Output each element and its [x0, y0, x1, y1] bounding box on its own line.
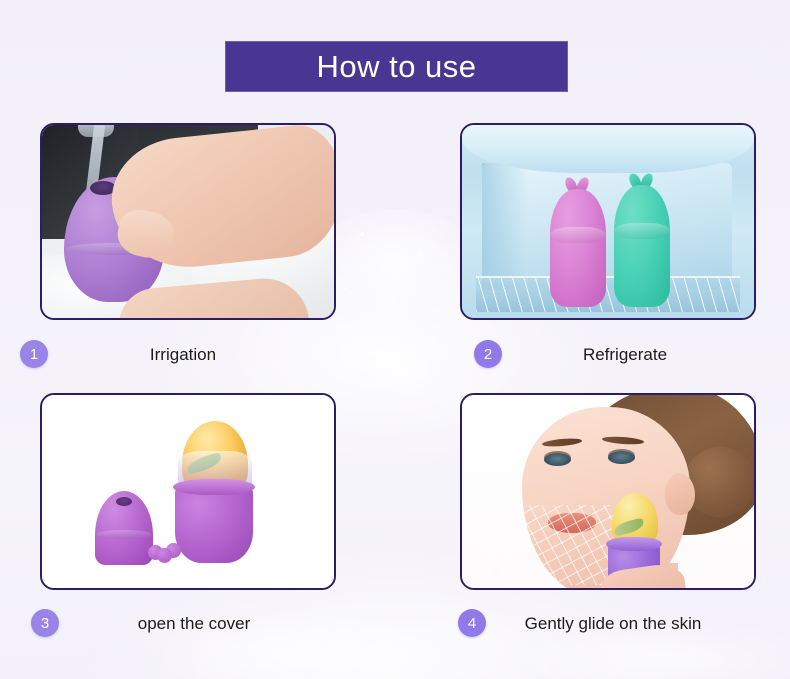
sparkle-icon — [418, 252, 421, 255]
photo-open-the-cover — [42, 395, 334, 588]
pink-ice-mold — [550, 189, 606, 307]
step-badge-3: 3 — [31, 609, 59, 637]
sparkle-icon — [430, 340, 433, 343]
step-caption-4: 4 Gently glide on the skin — [458, 608, 758, 638]
photo-refrigerate — [462, 125, 754, 318]
step-image-card-2 — [460, 123, 756, 320]
step-badge-4: 4 — [458, 609, 486, 637]
sparkle-icon — [360, 232, 364, 236]
mold-stem — [148, 543, 182, 561]
how-to-use-infographic: How to use — [0, 0, 790, 679]
step-badge-2: 2 — [474, 340, 502, 368]
mold-base — [175, 485, 253, 563]
step-label-2: Refrigerate — [502, 346, 766, 363]
photo-irrigation — [42, 125, 334, 318]
freezer-rack — [476, 276, 740, 312]
step-image-card-1 — [40, 123, 336, 320]
page-title: How to use — [316, 51, 476, 82]
step-caption-1: 1 Irrigation — [20, 339, 336, 369]
step-label-1: Irrigation — [48, 346, 336, 363]
sparkle-icon — [392, 300, 395, 303]
sparkle-icon — [344, 288, 346, 290]
step-image-card-3 — [40, 393, 336, 590]
step-caption-3: 3 open the cover — [31, 608, 347, 638]
lips — [548, 513, 596, 533]
background-glow — [355, 340, 445, 400]
step-image-card-4 — [460, 393, 756, 590]
photo-gently-glide-on-the-skin — [462, 395, 754, 588]
teal-ice-mold — [614, 185, 670, 307]
step-badge-1: 1 — [20, 340, 48, 368]
step-label-3: open the cover — [59, 615, 347, 632]
step-caption-2: 2 Refrigerate — [474, 339, 766, 369]
page-title-bar: How to use — [225, 41, 568, 92]
step-label-4: Gently glide on the skin — [486, 615, 758, 632]
